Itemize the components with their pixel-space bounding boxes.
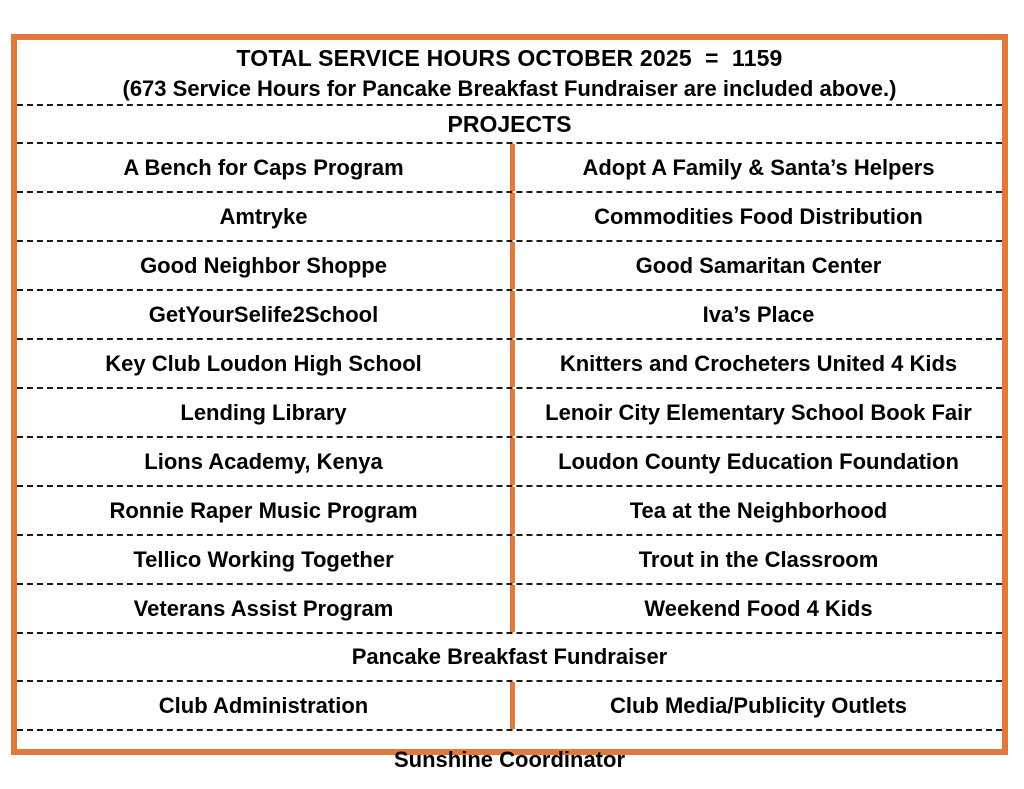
project-cell-left: Tellico Working Together [17, 536, 515, 583]
project-cell-left: Veterans Assist Program [17, 585, 515, 632]
project-cell-right: Adopt A Family & Santa’s Helpers [515, 144, 1002, 191]
project-cell-right: Iva’s Place [515, 291, 1002, 338]
project-cell-right: Good Samaritan Center [515, 242, 1002, 289]
project-cell-right: Trout in the Classroom [515, 536, 1002, 583]
table-row: Tellico Working Together Trout in the Cl… [17, 536, 1002, 583]
project-cell-right: Weekend Food 4 Kids [515, 585, 1002, 632]
table-row: Veterans Assist Program Weekend Food 4 K… [17, 585, 1002, 632]
table-row: Lending Library Lenoir City Elementary S… [17, 389, 1002, 436]
table-row: Amtryke Commodities Food Distribution [17, 193, 1002, 240]
sheet-inner: TOTAL SERVICE HOURS OCTOBER 2025 = 1159 … [17, 40, 1002, 749]
project-cell-right: Lenoir City Elementary School Book Fair [515, 389, 1002, 436]
sunshine-coordinator-label: Sunshine Coordinator [17, 731, 1002, 789]
table-row: Key Club Loudon High School Knitters and… [17, 340, 1002, 387]
project-cell-left: A Bench for Caps Program [17, 144, 515, 191]
table-row: Ronnie Raper Music Program Tea at the Ne… [17, 487, 1002, 534]
projects-section-label: PROJECTS [17, 106, 1002, 142]
table-row: Lions Academy, Kenya Loudon County Educa… [17, 438, 1002, 485]
projects-header-row: PROJECTS [17, 106, 1002, 142]
sunshine-row: Sunshine Coordinator [17, 731, 1002, 789]
project-cell-right: Commodities Food Distribution [515, 193, 1002, 240]
club-media-cell: Club Media/Publicity Outlets [515, 682, 1002, 729]
fundraiser-row: Pancake Breakfast Fundraiser [17, 634, 1002, 680]
fundraiser-note-subtitle: (673 Service Hours for Pancake Breakfast… [17, 73, 1002, 104]
club-administration-cell: Club Administration [17, 682, 515, 729]
project-cell-left: Lending Library [17, 389, 515, 436]
project-cell-left: Key Club Loudon High School [17, 340, 515, 387]
table-row: A Bench for Caps Program Adopt A Family … [17, 144, 1002, 191]
fundraiser-label: Pancake Breakfast Fundraiser [17, 634, 1002, 680]
admin-row: Club Administration Club Media/Publicity… [17, 682, 1002, 729]
table-row: GetYourSelife2School Iva’s Place [17, 291, 1002, 338]
table-row: Good Neighbor Shoppe Good Samaritan Cent… [17, 242, 1002, 289]
project-cell-right: Loudon County Education Foundation [515, 438, 1002, 485]
project-cell-right: Knitters and Crocheters United 4 Kids [515, 340, 1002, 387]
total-service-hours-title: TOTAL SERVICE HOURS OCTOBER 2025 = 1159 [17, 43, 1002, 73]
project-cell-left: GetYourSelife2School [17, 291, 515, 338]
header-block: TOTAL SERVICE HOURS OCTOBER 2025 = 1159 … [17, 40, 1002, 104]
service-hours-sheet: TOTAL SERVICE HOURS OCTOBER 2025 = 1159 … [11, 34, 1008, 755]
project-cell-left: Ronnie Raper Music Program [17, 487, 515, 534]
project-cell-left: Lions Academy, Kenya [17, 438, 515, 485]
project-cell-left: Amtryke [17, 193, 515, 240]
project-cell-right: Tea at the Neighborhood [515, 487, 1002, 534]
project-cell-left: Good Neighbor Shoppe [17, 242, 515, 289]
